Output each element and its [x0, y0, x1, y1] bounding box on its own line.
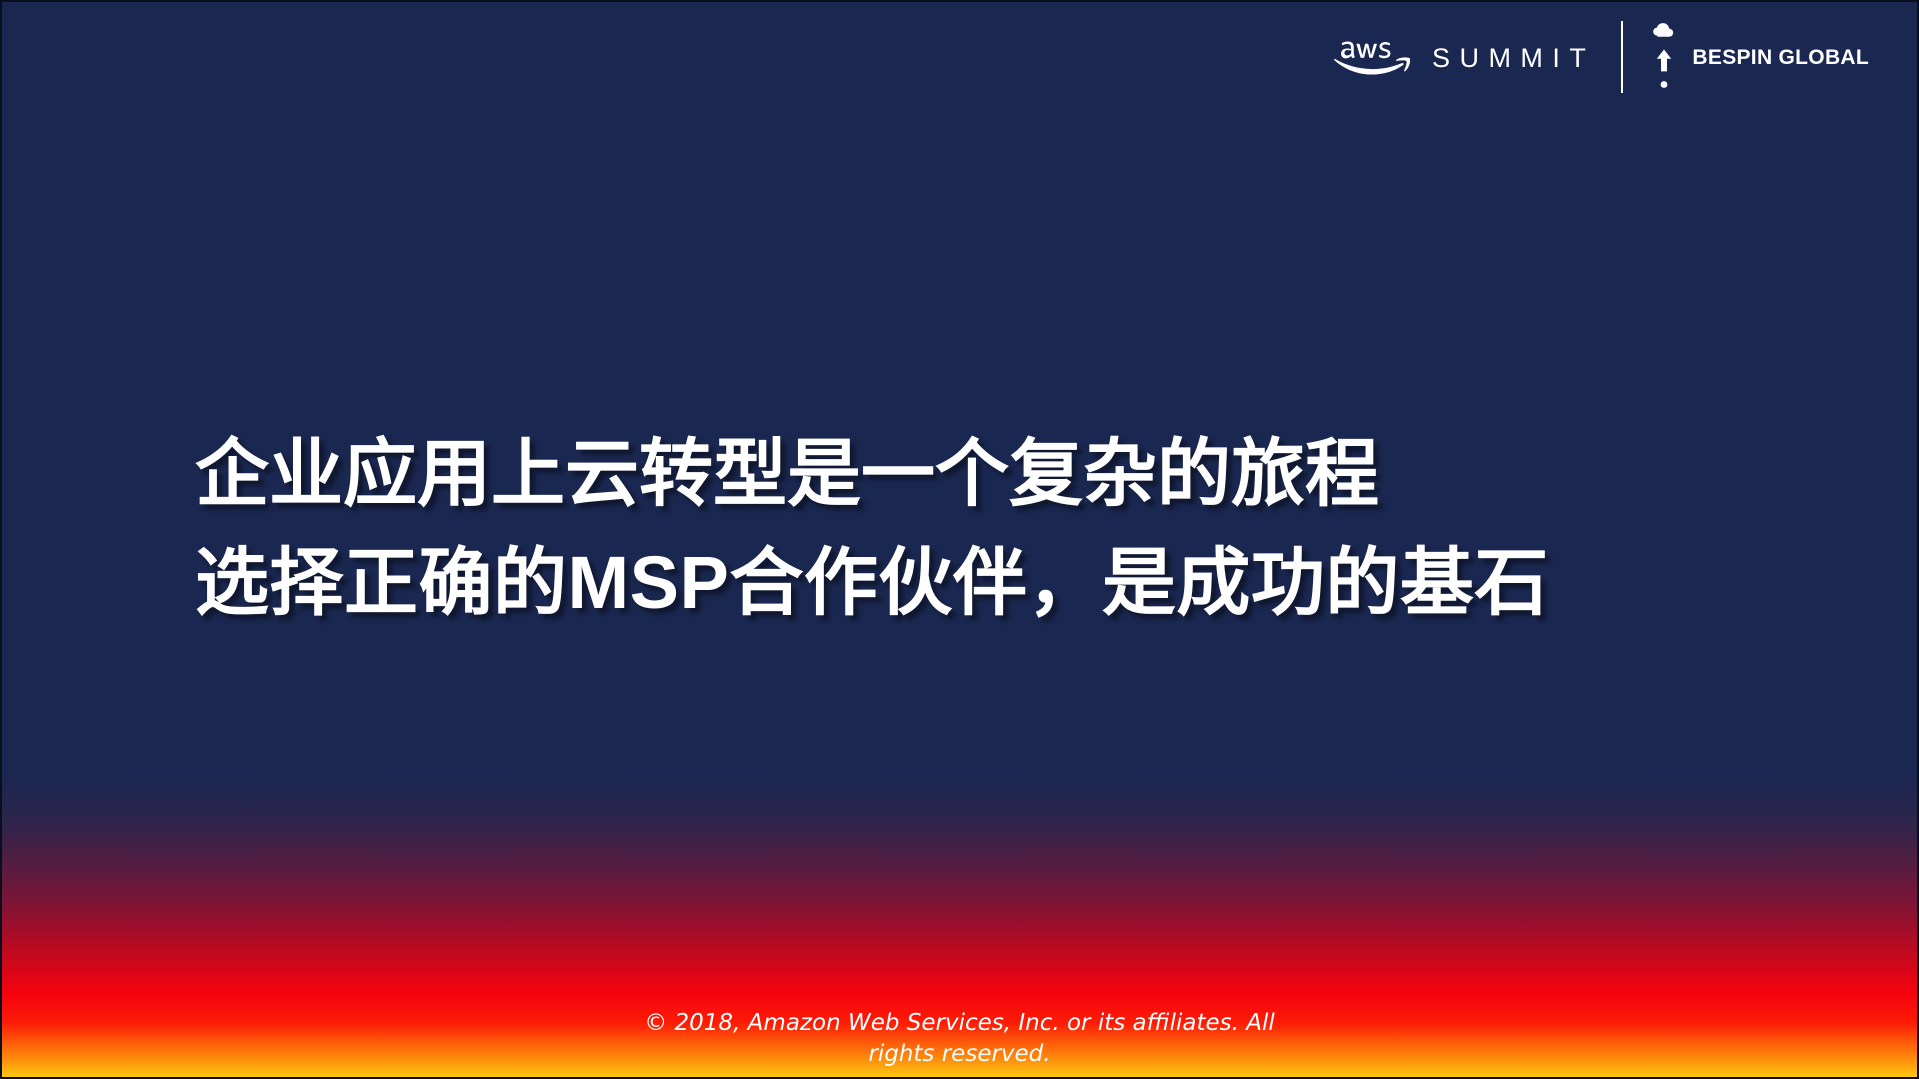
bespin-global-lockup: BESPIN GLOBAL: [1649, 22, 1869, 92]
slide-headline: 企业应用上云转型是一个复杂的旅程 选择正确的MSP合作伙伴，是成功的基石: [195, 420, 1835, 638]
logo-bar: SUMMIT BESPIN GLOBAL: [1334, 20, 1869, 94]
aws-logo-icon: [1334, 35, 1410, 79]
aws-summit-lockup: SUMMIT: [1334, 35, 1621, 79]
copyright-footer: © 2018, Amazon Web Services, Inc. or its…: [610, 1008, 1310, 1069]
logo-divider: [1621, 21, 1623, 93]
headline-line-2: 选择正确的MSP合作伙伴，是成功的基石: [195, 529, 1835, 638]
bespin-cloud-arrow-icon: [1649, 22, 1679, 92]
summit-label: SUMMIT: [1432, 43, 1595, 72]
presentation-slide: SUMMIT BESPIN GLOBAL 企业应用: [0, 0, 1919, 1079]
bespin-global-label: BESPIN GLOBAL: [1692, 47, 1869, 68]
headline-line-1: 企业应用上云转型是一个复杂的旅程: [195, 420, 1835, 529]
